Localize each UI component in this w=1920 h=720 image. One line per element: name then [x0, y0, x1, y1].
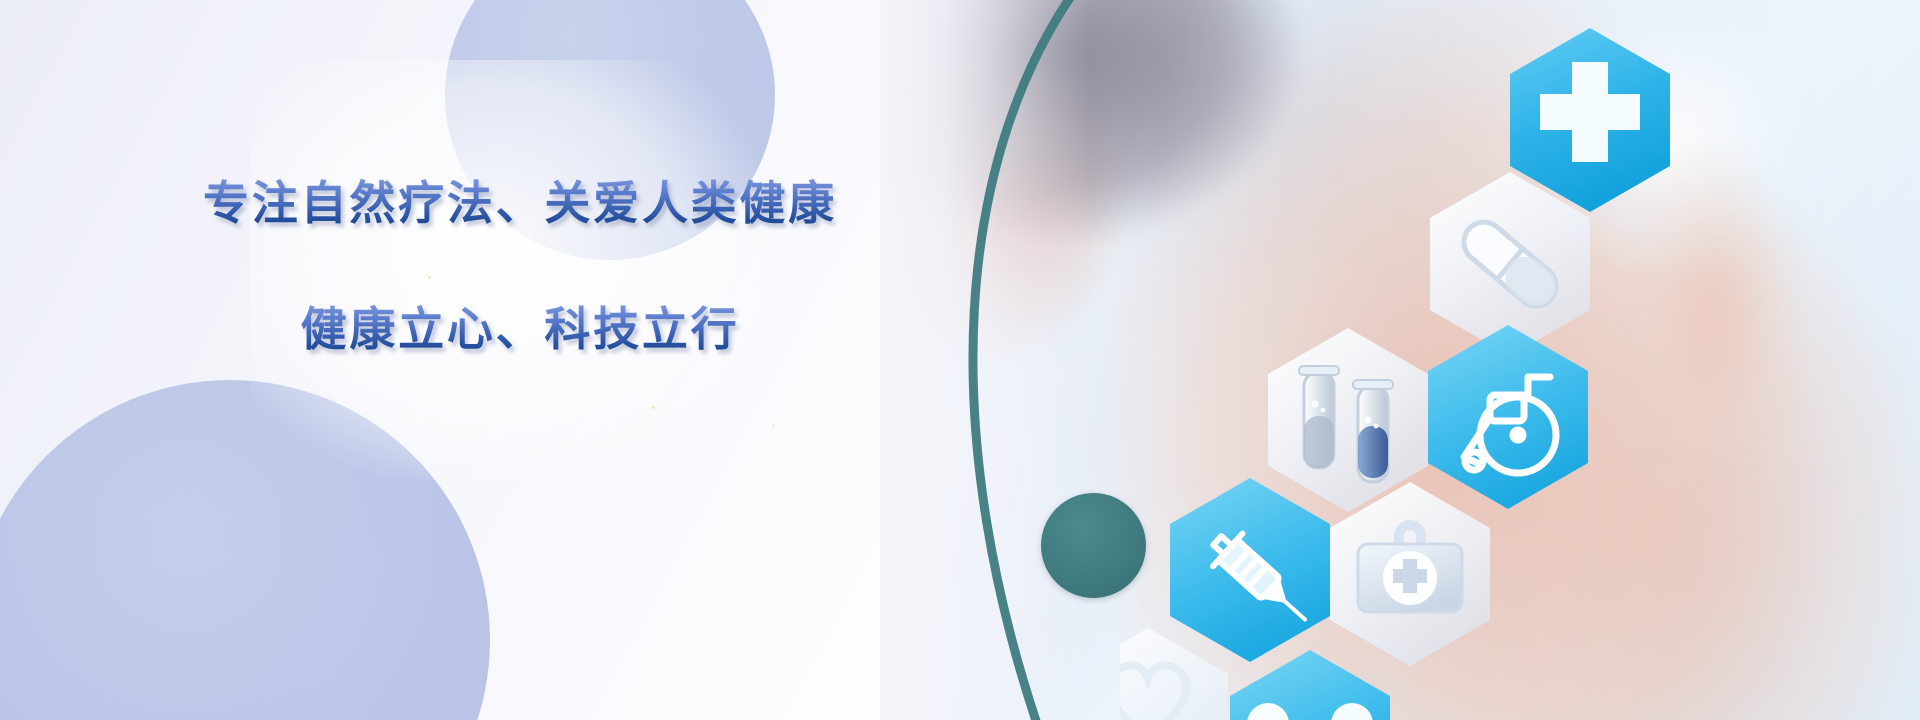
photo-left-fade — [880, 0, 1090, 720]
decor-bottom-circle — [0, 380, 490, 720]
headline-line-2: 健康立心、科技立行 — [0, 302, 1040, 356]
decor-speck — [652, 406, 655, 409]
headline-line-1: 专注自然疗法、关爱人类健康 — [0, 176, 1040, 230]
hex-heart-icon — [1120, 628, 1228, 720]
hex-cross-icon — [1510, 28, 1670, 212]
hex-wheelchair-icon — [1428, 325, 1588, 509]
hex-test-tubes-icon — [1268, 328, 1428, 512]
headline-block: 专注自然疗法、关爱人类健康 健康立心、科技立行 — [0, 176, 1040, 357]
hex-medical-bag-icon — [1330, 482, 1490, 666]
hero-banner: 专注自然疗法、关爱人类健康 健康立心、科技立行 — [0, 0, 1920, 720]
hex-syringe-icon — [1170, 478, 1330, 662]
decor-speck — [772, 424, 775, 427]
hexagon-icon-cluster — [1120, 10, 1820, 720]
teal-dot-icon — [1041, 493, 1146, 598]
hex-family-icon — [1230, 650, 1390, 720]
